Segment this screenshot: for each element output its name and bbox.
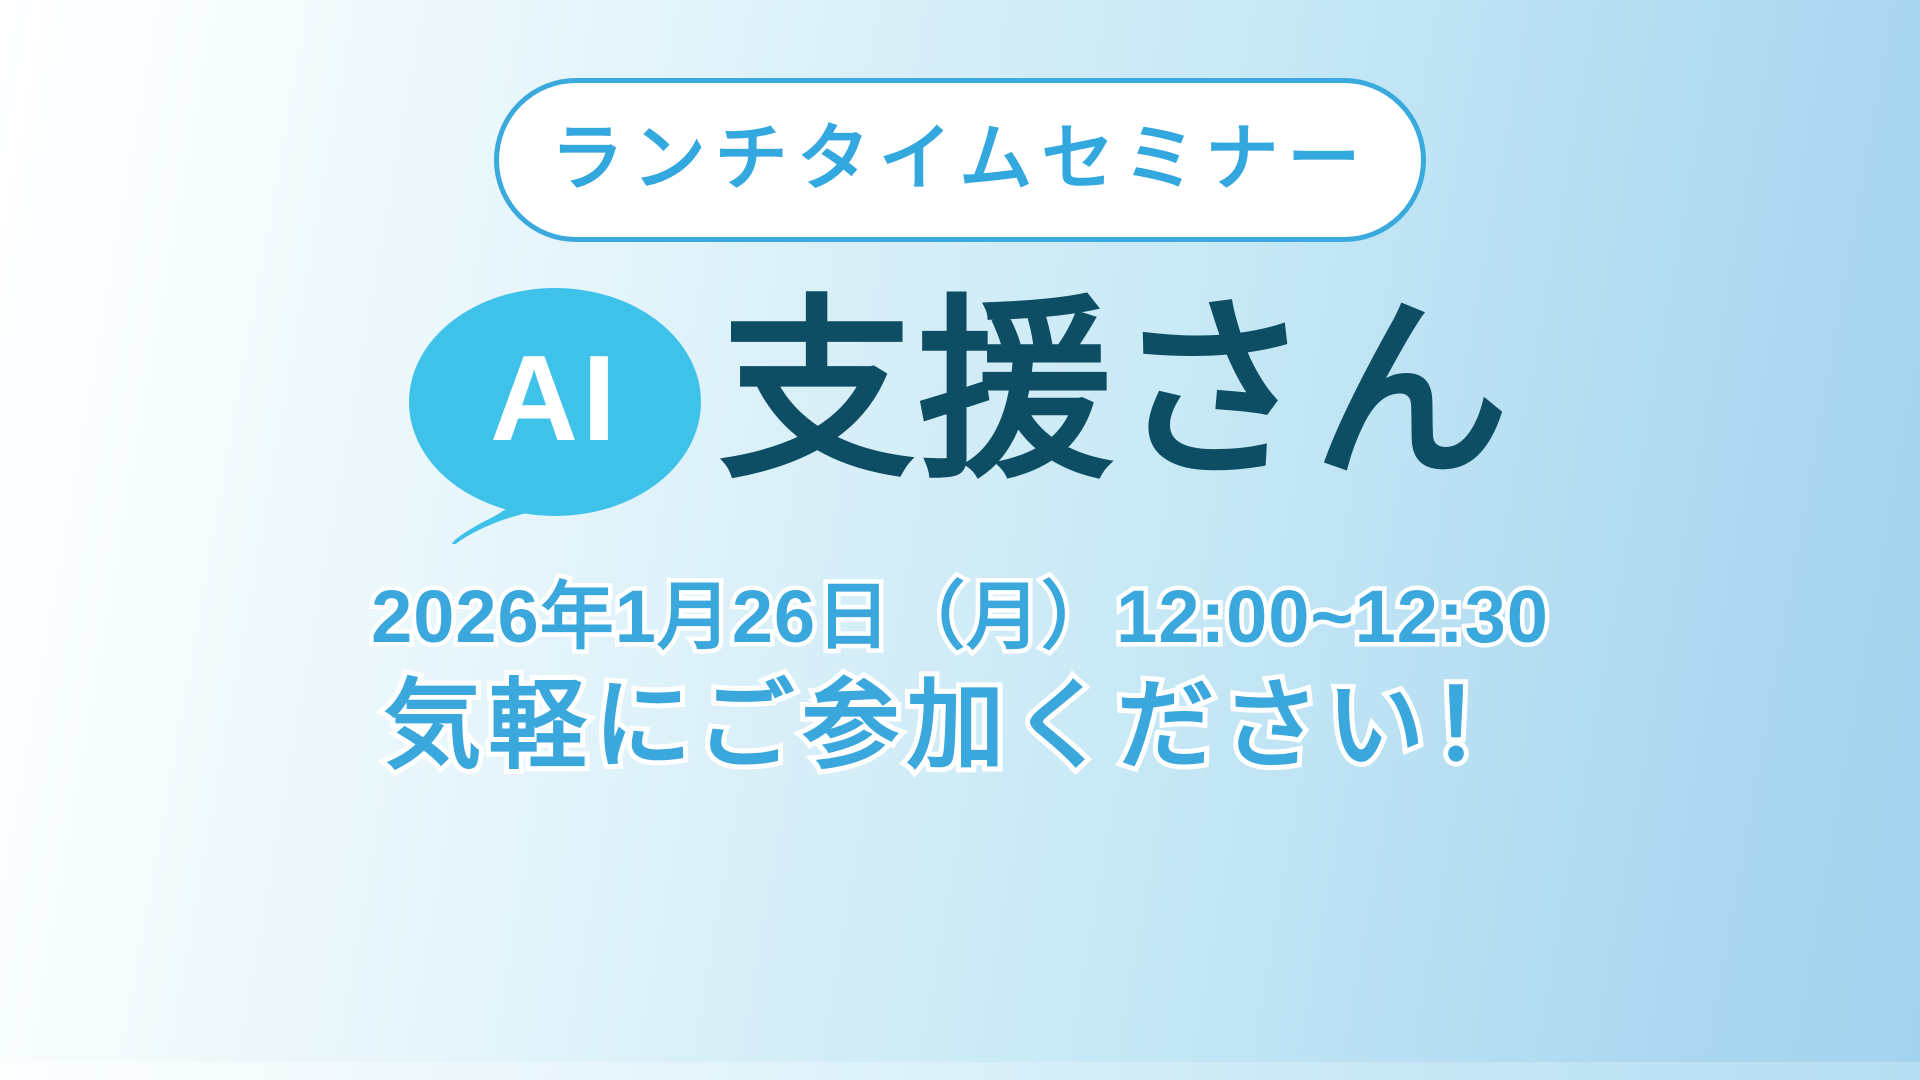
brand-name: 支援さん: [719, 294, 1511, 490]
bottom-edge-band: [0, 1062, 1920, 1080]
logo-row: AI 支援さん: [0, 282, 1920, 544]
badge-container: ランチタイムセミナー: [0, 78, 1920, 242]
seminar-date-time: 2026年1月26日（月）12:00~12:30: [0, 580, 1920, 654]
speech-bubble-icon: AI: [409, 288, 701, 516]
seminar-type-badge: ランチタイムセミナー: [494, 78, 1427, 242]
badge-label: ランチタイムセミナー: [551, 122, 1370, 195]
bubble-label: AI: [409, 284, 701, 512]
call-to-action-text: 気軽にご参加ください！: [0, 676, 1920, 774]
seminar-poster: ランチタイムセミナー AI 支援さん 2026年1月26日（月）12:00~12…: [0, 0, 1920, 1080]
